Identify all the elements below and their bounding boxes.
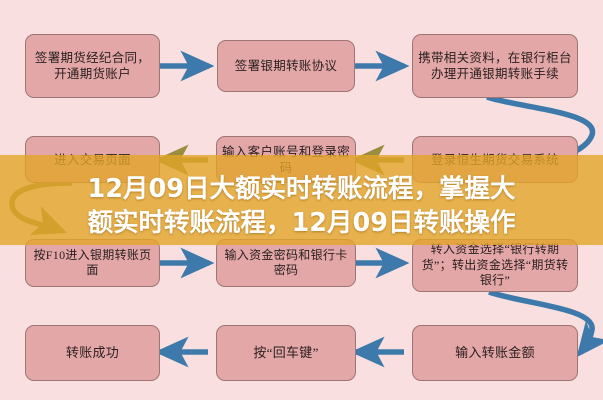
- flow-node-n3[interactable]: 携带相关资料，在银行柜台办理开通银期转账手续: [412, 34, 578, 98]
- banner-line-1: 12月09日大额实时转账流程，掌握大: [2, 173, 601, 207]
- flow-node-label: 输入资金密码和银行卡密码: [222, 248, 350, 279]
- flow-node-n9[interactable]: 转入资金选择“银行转期货”；转出资金选择“期货转银行”: [412, 239, 578, 292]
- flow-node-label: 按F10进入银期转账页面: [31, 248, 154, 279]
- flowchart-image: 签署期货经纪合同，开通期货账户 签署银期转账协议 携带相关资料，在银行柜台办理开…: [0, 0, 603, 400]
- flow-node-n7[interactable]: 按F10进入银期转账页面: [25, 239, 160, 287]
- title-banner-overlay: 12月09日大额实时转账流程，掌握大 额实时转账流程，12月09日转账操作: [0, 155, 603, 245]
- flow-node-n2[interactable]: 签署银期转账协议: [217, 40, 355, 92]
- flow-node-n12[interactable]: 转账成功: [25, 325, 160, 381]
- flow-node-n11[interactable]: 按“回车键”: [216, 325, 356, 381]
- flow-node-label: 转账成功: [31, 345, 154, 362]
- flow-node-label: 签署银期转账协议: [223, 58, 349, 74]
- banner-line-2: 额实时转账流程，12月09日转账操作: [2, 207, 601, 241]
- flow-node-label: 转入资金选择“银行转期货”；转出资金选择“期货转银行”: [418, 242, 572, 288]
- flow-node-n10[interactable]: 输入转账金额: [412, 325, 578, 381]
- banner-text: 12月09日大额实时转账流程，掌握大 额实时转账流程，12月09日转账操作: [0, 173, 603, 240]
- flow-node-n8[interactable]: 输入资金密码和银行卡密码: [216, 239, 356, 287]
- flow-node-label: 输入转账金额: [418, 345, 572, 362]
- flow-node-label: 携带相关资料，在银行柜台办理开通银期转账手续: [418, 50, 572, 82]
- flow-node-n1[interactable]: 签署期货经纪合同，开通期货账户: [25, 34, 160, 98]
- flow-node-label: 按“回车键”: [222, 345, 350, 362]
- flow-node-label: 签署期货经纪合同，开通期货账户: [31, 50, 154, 82]
